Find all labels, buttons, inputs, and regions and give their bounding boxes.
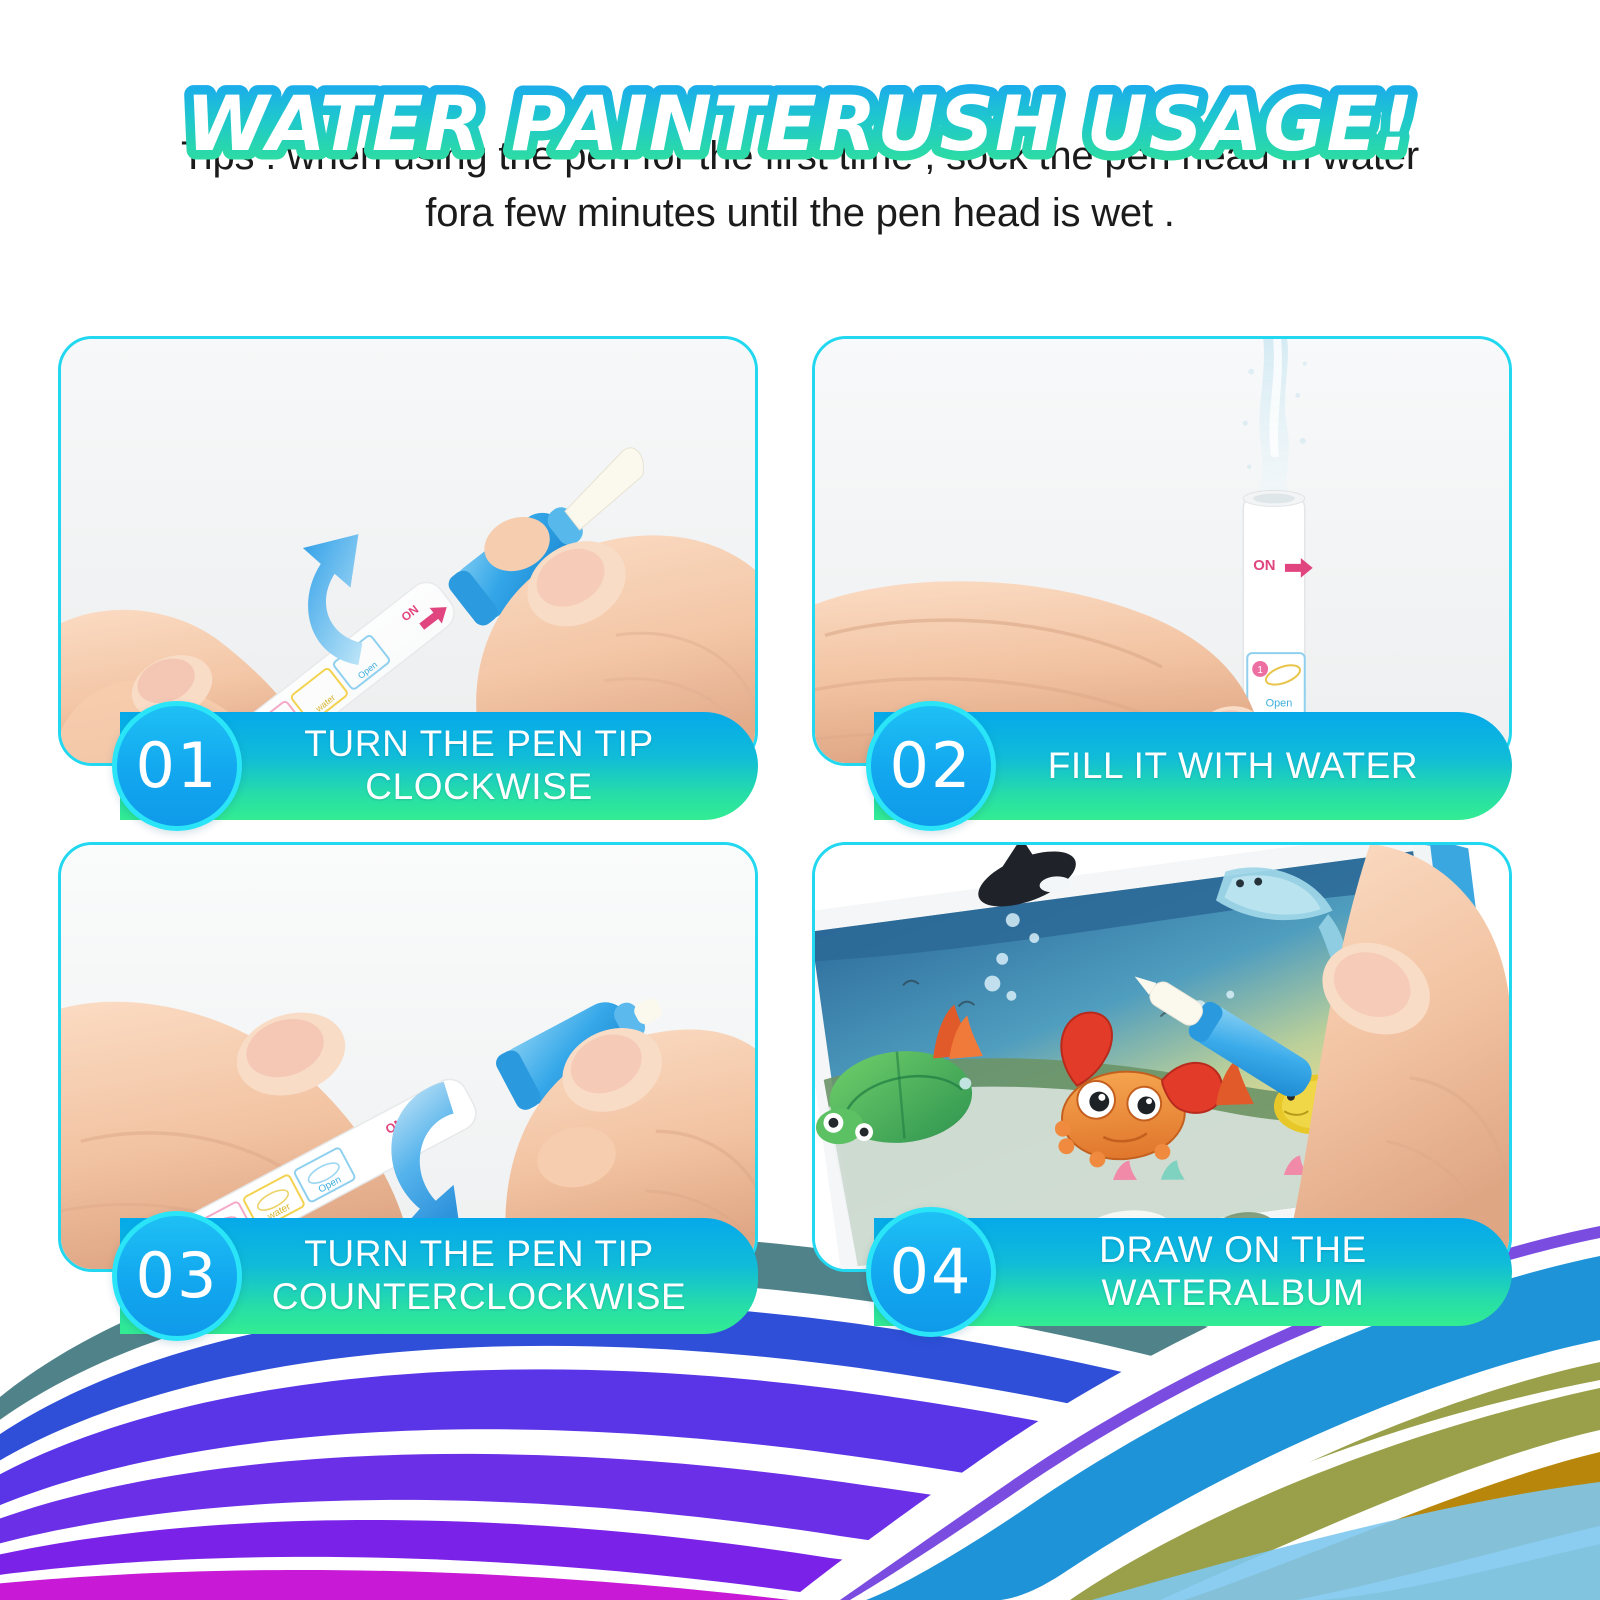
step-number-badge-03: 03 xyxy=(112,1211,242,1341)
tips-line-2: fora few minutes until the pen head is w… xyxy=(120,185,1480,242)
step-number-badge-01: 01 xyxy=(112,701,242,831)
poster-header: WATER PAINTERUSH USAGE! Tips : when usin… xyxy=(0,0,1600,242)
step-card-01: Close water Open ON xyxy=(58,336,758,820)
photo-filling-pen-with-water: ON 1 Open xyxy=(815,339,1509,763)
step-label-bar-02: 02 FILL IT WITH WATER xyxy=(874,712,1512,820)
step-card-04: 04 DRAW ON THE WATERALBUM xyxy=(812,842,1512,1334)
poster-root: WATER PAINTERUSH USAGE! Tips : when usin… xyxy=(0,0,1600,1600)
photo-hands-turning-pen-clockwise: Close water Open ON xyxy=(61,339,755,763)
step-card-02: ON 1 Open xyxy=(812,336,1512,820)
step-label-03: TURN THE PEN TIP COUNTERCLOCKWISE xyxy=(272,1233,687,1319)
step-number-badge-04: 04 xyxy=(866,1207,996,1337)
page-title: WATER PAINTERUSH USAGE! xyxy=(155,78,1445,170)
steps-row-2: Close water Open ON xyxy=(0,842,1600,1334)
steps-row-1: Close water Open ON xyxy=(0,336,1600,820)
pen-mark-1-02: 1 xyxy=(1257,665,1263,676)
step-number-01: 01 xyxy=(136,735,219,797)
step-label-bar-01: 01 TURN THE PEN TIP CLOCKWISE xyxy=(120,712,758,820)
step-label-bar-04: 04 DRAW ON THE WATERALBUM xyxy=(874,1218,1512,1326)
steps-grid: Close water Open ON xyxy=(0,336,1600,1356)
step-label-04: DRAW ON THE WATERALBUM xyxy=(994,1229,1472,1315)
step-number-04: 04 xyxy=(890,1241,973,1303)
page-title-text: WATER PAINTERUSH USAGE! xyxy=(186,80,1415,168)
step-card-03: Close water Open ON xyxy=(58,842,758,1334)
step-number-03: 03 xyxy=(136,1245,219,1307)
step-label-bar-03: 03 TURN THE PEN TIP COUNTERCLOCKWISE xyxy=(120,1218,758,1334)
step-label-01: TURN THE PEN TIP CLOCKWISE xyxy=(240,723,718,809)
step-photo-03: Close water Open ON xyxy=(58,842,758,1272)
page-title-wrap: WATER PAINTERUSH USAGE! xyxy=(0,0,1600,110)
step-label-02: FILL IT WITH WATER xyxy=(1048,745,1419,788)
photo-hands-turning-pen-counterclockwise: Close water Open ON xyxy=(61,845,755,1269)
pen-mark-open-02: Open xyxy=(1266,698,1293,710)
pen-mark-on-02: ON xyxy=(1253,558,1275,574)
step-number-badge-02: 02 xyxy=(866,701,996,831)
step-number-02: 02 xyxy=(890,735,973,797)
photo-drawing-on-water-album xyxy=(815,845,1509,1269)
